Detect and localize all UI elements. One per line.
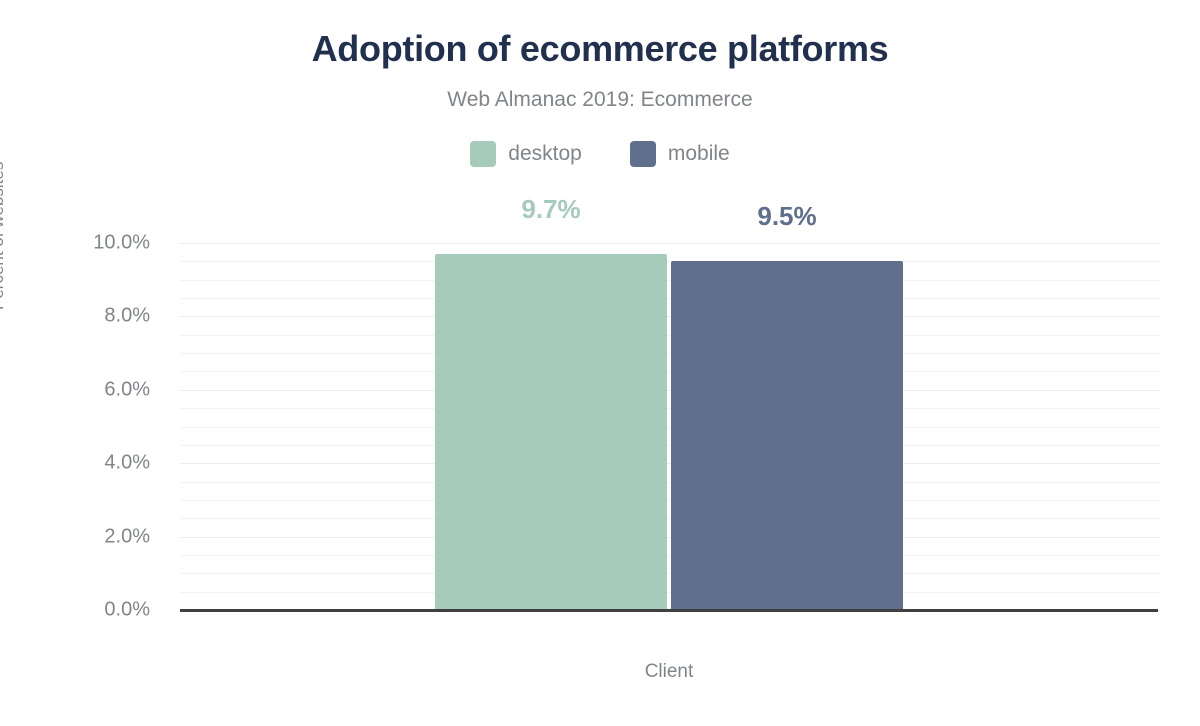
bar-desktop[interactable] xyxy=(435,254,667,610)
chart-legend: desktop mobile xyxy=(0,141,1200,167)
chart-figure: Adoption of ecommerce platforms Web Alma… xyxy=(0,0,1200,726)
gridline-minor xyxy=(180,353,1160,354)
legend-item-desktop[interactable]: desktop xyxy=(470,141,582,167)
gridline-major xyxy=(180,537,1160,538)
gridline-minor xyxy=(180,280,1160,281)
gridline-minor xyxy=(180,555,1160,556)
x-axis-line xyxy=(180,609,1158,612)
y-axis-tick-label: 2.0% xyxy=(30,525,150,548)
y-axis-tick-label: 6.0% xyxy=(30,378,150,401)
gridline-minor xyxy=(180,427,1160,428)
y-axis-tick-label: 10.0% xyxy=(30,232,150,255)
gridline-minor xyxy=(180,500,1160,501)
gridline-minor xyxy=(180,298,1160,299)
legend-item-mobile[interactable]: mobile xyxy=(630,141,730,167)
gridline-minor xyxy=(180,408,1160,409)
chart-title: Adoption of ecommerce platforms xyxy=(0,28,1200,70)
gridline-minor xyxy=(180,592,1160,593)
gridline-major xyxy=(180,243,1160,244)
gridline-minor xyxy=(180,573,1160,574)
gridline-minor xyxy=(180,445,1160,446)
gridline-major xyxy=(180,463,1160,464)
y-axis-title: Percent of websites xyxy=(0,162,8,310)
gridline-major xyxy=(180,316,1160,317)
gridline-minor xyxy=(180,371,1160,372)
gridline-minor xyxy=(180,335,1160,336)
legend-swatch-mobile xyxy=(630,141,656,167)
x-axis-title: Client xyxy=(180,661,1158,683)
legend-label-mobile: mobile xyxy=(668,142,730,166)
bar-value-label-desktop: 9.7% xyxy=(521,194,580,225)
gridline-minor xyxy=(180,518,1160,519)
legend-swatch-desktop xyxy=(470,141,496,167)
plot-area: 0.0%2.0%4.0%6.0%8.0%10.0%9.7%9.5% xyxy=(180,243,1160,610)
bar-mobile[interactable] xyxy=(671,261,903,610)
chart-subtitle: Web Almanac 2019: Ecommerce xyxy=(0,88,1200,112)
legend-label-desktop: desktop xyxy=(508,142,582,166)
gridline-major xyxy=(180,390,1160,391)
y-axis-tick-label: 8.0% xyxy=(30,305,150,328)
y-axis-tick-label: 0.0% xyxy=(30,599,150,622)
gridline-minor xyxy=(180,261,1160,262)
bar-value-label-mobile: 9.5% xyxy=(757,201,816,232)
y-axis-tick-label: 4.0% xyxy=(30,452,150,475)
gridline-minor xyxy=(180,482,1160,483)
